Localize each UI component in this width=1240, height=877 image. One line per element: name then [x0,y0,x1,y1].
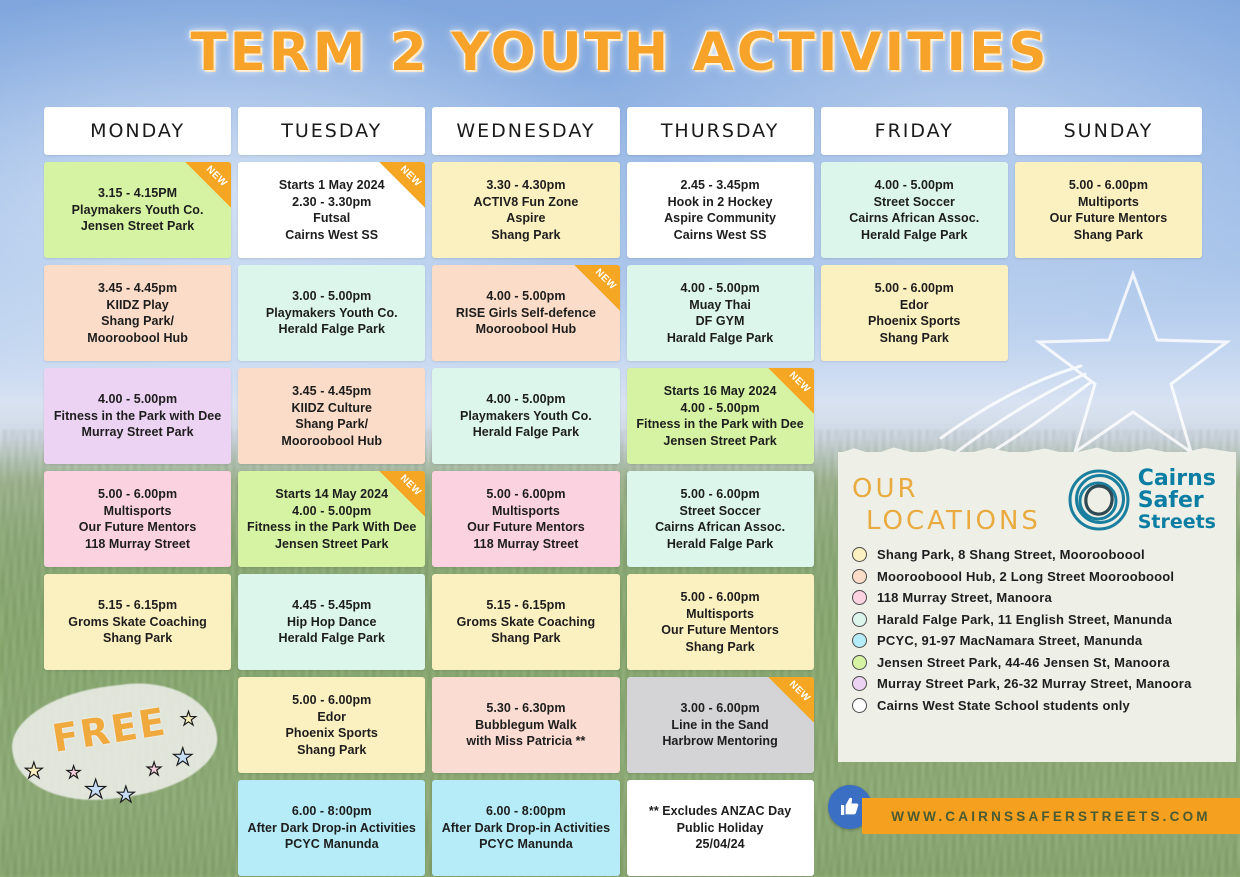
empty-slot [44,780,231,876]
activity-card[interactable]: 4.45 - 5.45pmHip Hop DanceHerald Falge P… [238,574,425,670]
activity-line: Multiports [1078,194,1139,211]
activity-line: Herald Falge Park [279,630,385,647]
activity-line: Mooroobool Hub [281,433,382,450]
activity-line: Edor [900,297,929,314]
schedule-row: 3.15 - 4.15PMPlaymakers Youth Co.Jensen … [44,162,1202,258]
poster-canvas: TERM 2 YOUTH ACTIVITIES MONDAYTUESDAYWED… [0,0,1240,877]
activity-line: Public Holiday [677,820,764,837]
new-badge: NEW [379,162,425,208]
activity-card[interactable]: 4.00 - 5.00pmPlaymakers Youth Co.Herald … [432,368,619,464]
activity-line: 2.45 - 3.45pm [680,177,759,194]
locations-title: OUR LOCATIONS [852,468,1041,537]
day-header-row: MONDAYTUESDAYWEDNESDAYTHURSDAYFRIDAYSUND… [44,107,1202,155]
activity-line: Playmakers Youth Co. [266,305,398,322]
location-label: Murray Street Park, 26-32 Murray Street,… [877,676,1192,691]
activity-line: Cairns African Assoc. [849,210,979,227]
day-header-thursday: THURSDAY [627,107,814,155]
location-item: PCYC, 91-97 MacNamara Street, Manunda [852,633,1222,648]
activity-line: Street Soccer [679,503,760,520]
location-label: Moorooboool Hub, 2 Long Street Moorooboo… [877,569,1174,584]
new-badge-label: NEW [779,368,814,403]
activity-card[interactable]: ** Excludes ANZAC DayPublic Holiday25/04… [627,780,814,876]
activity-line: Our Future Mentors [79,519,197,536]
location-color-dot-icon [852,612,867,627]
activity-line: 5.30 - 6.30pm [486,700,565,717]
activity-line: Jensen Street Park [81,218,194,235]
schedule-row: 3.45 - 4.45pmKIIDZ PlayShang Park/Mooroo… [44,265,1202,361]
activity-card[interactable]: 5.00 - 6.00pmStreet SoccerCairns African… [627,471,814,567]
new-badge-label: NEW [391,162,426,197]
activity-card[interactable]: 6.00 - 8:00pmAfter Dark Drop-in Activiti… [238,780,425,876]
brand-line-3: Streets [1138,513,1216,532]
location-item: Cairns West State School students only [852,698,1222,713]
day-header-wednesday: WEDNESDAY [432,107,619,155]
activity-line: KIIDZ Culture [291,400,372,417]
activity-line: Playmakers Youth Co. [460,408,592,425]
activity-line: 5.00 - 6.00pm [680,589,759,606]
activity-line: Our Future Mentors [661,622,779,639]
activity-line: Shang Park [685,639,754,656]
activity-line: Hook in 2 Hockey [668,194,773,211]
activity-line: Shang Park [491,630,560,647]
page-title: TERM 2 YOUTH ACTIVITIES [0,22,1240,83]
activity-line: Playmakers Youth Co. [72,202,204,219]
activity-line: Starts 14 May 2024 [275,486,388,503]
activity-line: Futsal [313,210,350,227]
activity-line: 2.30 - 3.30pm [292,194,371,211]
location-color-dot-icon [852,547,867,562]
activity-line: 5.00 - 6.00pm [98,486,177,503]
activity-card[interactable]: Starts 1 May 20242.30 - 3.30pmFutsalCair… [238,162,425,258]
location-item: Moorooboool Hub, 2 Long Street Moorooboo… [852,569,1222,584]
location-label: Harald Falge Park, 11 English Street, Ma… [877,612,1172,627]
activity-line: 5.15 - 6.15pm [486,597,565,614]
activity-card[interactable]: 4.00 - 5.00pmStreet SoccerCairns African… [821,162,1008,258]
star-icon: ★ [24,760,44,782]
activity-line: 3.15 - 4.15PM [98,185,177,202]
activity-line: KIIDZ Play [106,297,168,314]
activity-line: After Dark Drop-in Activities [442,820,610,837]
activity-line: Cairns West SS [674,227,767,244]
activity-line: Shang Park [103,630,172,647]
day-header-tuesday: TUESDAY [238,107,425,155]
activity-line: 4.00 - 5.00pm [98,391,177,408]
activity-line: 5.00 - 6.00pm [292,692,371,709]
activity-card[interactable]: 5.30 - 6.30pmBubblegum Walkwith Miss Pat… [432,677,619,773]
activity-line: 4.00 - 5.00pm [680,280,759,297]
activity-line: Our Future Mentors [1050,210,1168,227]
new-badge-label: NEW [391,471,426,506]
activity-line: Shang Park [880,330,949,347]
activity-line: 4.00 - 5.00pm [875,177,954,194]
activity-card[interactable]: Starts 14 May 20244.00 - 5.00pmFitness i… [238,471,425,567]
activity-line: Shang Park [297,742,366,759]
location-color-dot-icon [852,655,867,670]
activity-line: DF GYM [696,313,745,330]
location-color-dot-icon [852,569,867,584]
activity-line: 4.00 - 5.00pm [486,391,565,408]
activity-line: 3.45 - 4.45pm [98,280,177,297]
location-item: Harald Falge Park, 11 English Street, Ma… [852,612,1222,627]
location-label: 118 Murray Street, Manoora [877,590,1052,605]
activity-line: PCYC Manunda [285,836,379,853]
activity-line: 4.45 - 5.45pm [292,597,371,614]
location-label: Jensen Street Park, 44-46 Jensen St, Man… [877,655,1170,670]
activity-card[interactable]: 4.00 - 5.00pmRISE Girls Self-defenceMoor… [432,265,619,361]
activity-line: Our Future Mentors [467,519,585,536]
activity-line: Cairns African Assoc. [655,519,785,536]
location-label: Cairns West State School students only [877,698,1130,713]
activity-line: Shang Park/ [295,416,368,433]
location-label: Shang Park, 8 Shang Street, Moorooboool [877,547,1145,562]
website-url: WWW.CAIRNSSAFERSTREETS.COM [891,809,1210,824]
activity-line: 6.00 - 8:00pm [292,803,372,820]
activity-line: Shang Park/ [101,313,174,330]
activity-line: Harbrow Mentoring [662,733,777,750]
our-locations-panel: OUR LOCATIONS Cairns Safer Streets [838,452,1236,762]
activity-line: 4.00 - 5.00pm [680,400,759,417]
locations-title-line1: OUR [852,474,919,504]
activity-line: ACTIV8 Fun Zone [473,194,578,211]
activity-line: Groms Skate Coaching [68,614,207,631]
activity-card[interactable]: 5.00 - 6.00pmMultisportsOur Future Mento… [44,471,231,567]
activity-card[interactable]: 3.00 - 5.00pmPlaymakers Youth Co.Herald … [238,265,425,361]
activity-card[interactable]: 5.00 - 6.00pmMultisportsOur Future Mento… [627,574,814,670]
activity-line: Fitness in the Park with Dee [636,416,803,433]
brand-line-2: Safer [1138,490,1216,512]
activity-card[interactable]: 5.00 - 6.00pmEdorPhoenix SportsShang Par… [238,677,425,773]
day-header-monday: MONDAY [44,107,231,155]
activity-line: 3.45 - 4.45pm [292,383,371,400]
activity-card[interactable]: 3.45 - 4.45pmKIIDZ CultureShang Park/Moo… [238,368,425,464]
location-item: 118 Murray Street, Manoora [852,590,1222,605]
activity-line: Edor [317,709,346,726]
spiral-logo-icon [1067,469,1131,531]
activity-line: PCYC Manunda [479,836,573,853]
activity-line: Jensen Street Park [275,536,388,553]
activity-line: Street Soccer [874,194,955,211]
locations-title-line2: LOCATIONS [866,506,1041,538]
activity-line: Mooroobool Hub [476,321,577,338]
activity-line: Shang Park [1074,227,1143,244]
activity-card[interactable]: 5.00 - 6.00pmMultisportsOur Future Mento… [432,471,619,567]
activity-line: Multisports [104,503,172,520]
activity-card[interactable]: 3.00 - 6.00pmLine in the SandHarbrow Men… [627,677,814,773]
activity-line: After Dark Drop-in Activities [248,820,416,837]
activity-line: Jensen Street Park [663,433,776,450]
activity-line: Fitness in the Park with Dee [54,408,221,425]
locations-header: OUR LOCATIONS Cairns Safer Streets [852,468,1222,537]
activity-card[interactable]: 4.00 - 5.00pmFitness in the Park with De… [44,368,231,464]
empty-slot [1015,265,1202,361]
location-label: PCYC, 91-97 MacNamara Street, Manunda [877,633,1142,648]
activity-card[interactable]: 3.45 - 4.45pmKIIDZ PlayShang Park/Mooroo… [44,265,231,361]
activity-line: 5.00 - 6.00pm [1069,177,1148,194]
empty-slot [44,677,231,773]
cairns-safer-streets-logo: Cairns Safer Streets [1067,468,1222,532]
activity-line: Harald Falge Park [667,330,773,347]
activity-line: Aspire Community [664,210,776,227]
activity-line: 4.00 - 5.00pm [292,503,371,520]
locations-list: Shang Park, 8 Shang Street, MooroobooolM… [852,547,1222,713]
activity-line: 5.15 - 6.15pm [98,597,177,614]
activity-line: 118 Murray Street [473,536,578,553]
activity-line: Herald Falge Park [667,536,773,553]
activity-line: RISE Girls Self-defence [456,305,596,322]
location-color-dot-icon [852,698,867,713]
activity-line: Bubblegum Walk [475,717,577,734]
activity-line: Starts 16 May 2024 [664,383,777,400]
activity-card[interactable]: 3.30 - 4.30pmACTIV8 Fun ZoneAspireShang … [432,162,619,258]
activity-line: 25/04/24 [696,836,745,853]
activity-card[interactable]: 5.15 - 6.15pmGroms Skate CoachingShang P… [44,574,231,670]
thumbs-up-icon [838,795,862,819]
activity-card[interactable]: 5.15 - 6.15pmGroms Skate CoachingShang P… [432,574,619,670]
activity-line: Murray Street Park [82,424,194,441]
activity-line: 118 Murray Street [85,536,190,553]
empty-slot [821,368,1008,464]
day-header-friday: FRIDAY [821,107,1008,155]
activity-card[interactable]: Starts 16 May 20244.00 - 5.00pmFitness i… [627,368,814,464]
activity-line: Hip Hop Dance [287,614,377,631]
activity-line: Multisports [492,503,560,520]
activity-line: Herald Falge Park [279,321,385,338]
location-item: Shang Park, 8 Shang Street, Moorooboool [852,547,1222,562]
activity-card[interactable]: 5.00 - 6.00pmEdorPhoenix SportsShang Par… [821,265,1008,361]
location-color-dot-icon [852,633,867,648]
activity-line: Phoenix Sports [868,313,960,330]
brand-line-1: Cairns [1138,468,1216,490]
new-badge: NEW [768,677,814,723]
activity-card[interactable]: 6.00 - 8:00pmAfter Dark Drop-in Activiti… [432,780,619,876]
activity-line: 3.00 - 6.00pm [680,700,759,717]
new-badge-label: NEW [779,677,814,712]
brand-wordmark: Cairns Safer Streets [1138,468,1216,532]
activity-line: Cairns West SS [285,227,378,244]
activity-line: Phoenix Sports [286,725,378,742]
activity-line: Muay Thai [689,297,751,314]
activity-card[interactable]: 5.00 - 6.00pmMultiportsOur Future Mentor… [1015,162,1202,258]
activity-line: 3.00 - 5.00pm [292,288,371,305]
activity-line: Herald Falge Park [861,227,967,244]
activity-card[interactable]: 2.45 - 3.45pmHook in 2 HockeyAspire Comm… [627,162,814,258]
activity-line: Starts 1 May 2024 [279,177,385,194]
activity-line: ** Excludes ANZAC Day [649,803,791,820]
activity-line: Mooroobool Hub [87,330,188,347]
activity-line: Shang Park [491,227,560,244]
activity-line: 6.00 - 8:00pm [486,803,566,820]
day-header-sunday: SUNDAY [1015,107,1202,155]
activity-line: 4.00 - 5.00pm [486,288,565,305]
location-item: Murray Street Park, 26-32 Murray Street,… [852,676,1222,691]
activity-line: Line in the Sand [671,717,768,734]
activity-card[interactable]: 3.15 - 4.15PMPlaymakers Youth Co.Jensen … [44,162,231,258]
schedule-row: 4.00 - 5.00pmFitness in the Park with De… [44,368,1202,464]
activity-line: 3.30 - 4.30pm [486,177,565,194]
website-footer-bar[interactable]: WWW.CAIRNSSAFERSTREETS.COM [862,798,1240,834]
activity-line: 5.00 - 6.00pm [486,486,565,503]
activity-line: Multisports [686,606,754,623]
activity-line: Groms Skate Coaching [457,614,596,631]
location-item: Jensen Street Park, 44-46 Jensen St, Man… [852,655,1222,670]
activity-line: with Miss Patricia ** [466,733,585,750]
new-badge-label: NEW [585,265,620,300]
new-badge-label: NEW [196,162,231,197]
activity-line: Fitness in the Park With Dee [247,519,416,536]
location-color-dot-icon [852,676,867,691]
activity-card[interactable]: 4.00 - 5.00pmMuay ThaiDF GYMHarald Falge… [627,265,814,361]
location-color-dot-icon [852,590,867,605]
activity-line: 5.00 - 6.00pm [680,486,759,503]
activity-line: 5.00 - 6.00pm [875,280,954,297]
activity-line: Aspire [506,210,545,227]
activity-line: Herald Falge Park [473,424,579,441]
